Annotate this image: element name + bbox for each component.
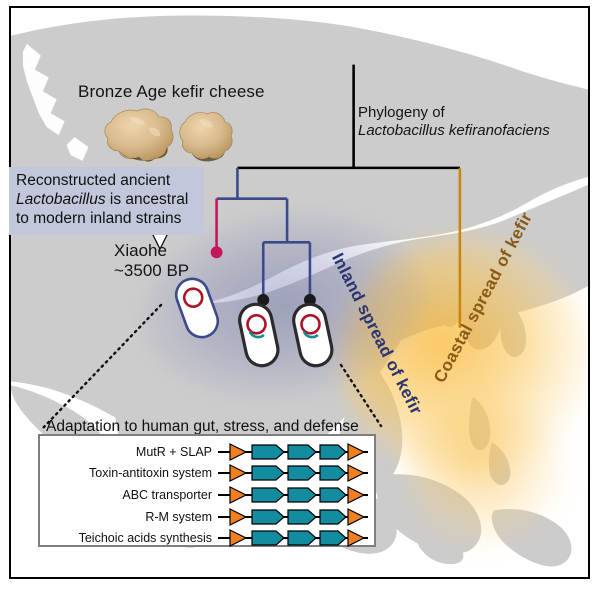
gene-row: Teichoic acids synthesis [40,527,368,549]
phylogeny-title-species: Lactobacillus kefiranofaciens [358,122,550,140]
operon-track [218,442,368,462]
operon-glyphs [218,485,368,505]
operon-glyphs [218,528,368,548]
callout-line-2-rest: is ancestral [106,191,189,208]
leader-line-right [341,365,381,426]
callout-line-2: Lactobacillus is ancestral [16,191,197,210]
gene-row-label: Toxin-antitoxin system [40,466,218,480]
operon-track [218,528,368,548]
reconstructed-ancient-callout: Reconstructed ancient Lactobacillus is a… [9,167,204,235]
callout-species-name: Lactobacillus [16,191,106,208]
gene-row: MutR + SLAP [40,441,368,463]
callout-line-3: to modern inland strains [16,210,197,229]
gene-row: ABC transporter [40,484,368,506]
gene-row-label: R-M system [40,510,218,524]
operon-glyphs [218,463,368,483]
figure-root: Bronze Age kefir cheese Phylogeny of Lac… [0,0,600,597]
leader-line-left [43,305,161,428]
operon-track [218,507,368,527]
xiaohe-site-label: Xiaohe ~3500 BP [114,241,189,281]
xiaohe-date: ~3500 BP [114,261,189,281]
gene-panel: MutR + SLAP Toxin-antitoxin system [38,434,376,547]
operon-glyphs [218,507,368,527]
operon-glyphs [218,442,368,462]
phylogeny-title: Phylogeny of Lactobacillus kefiranofacie… [358,104,550,139]
phylogeny-title-line1: Phylogeny of [358,104,550,122]
gene-row-label: Teichoic acids synthesis [40,531,218,545]
gene-row: Toxin-antitoxin system [40,463,368,485]
gene-row-label: ABC transporter [40,488,218,502]
callout-line-1: Reconstructed ancient [16,172,197,191]
gene-row-label: MutR + SLAP [40,445,218,459]
operon-track [218,485,368,505]
operon-track [218,463,368,483]
cheese-label: Bronze Age kefir cheese [78,82,265,102]
xiaohe-name: Xiaohe [114,241,189,261]
gene-row: R-M system [40,506,368,528]
